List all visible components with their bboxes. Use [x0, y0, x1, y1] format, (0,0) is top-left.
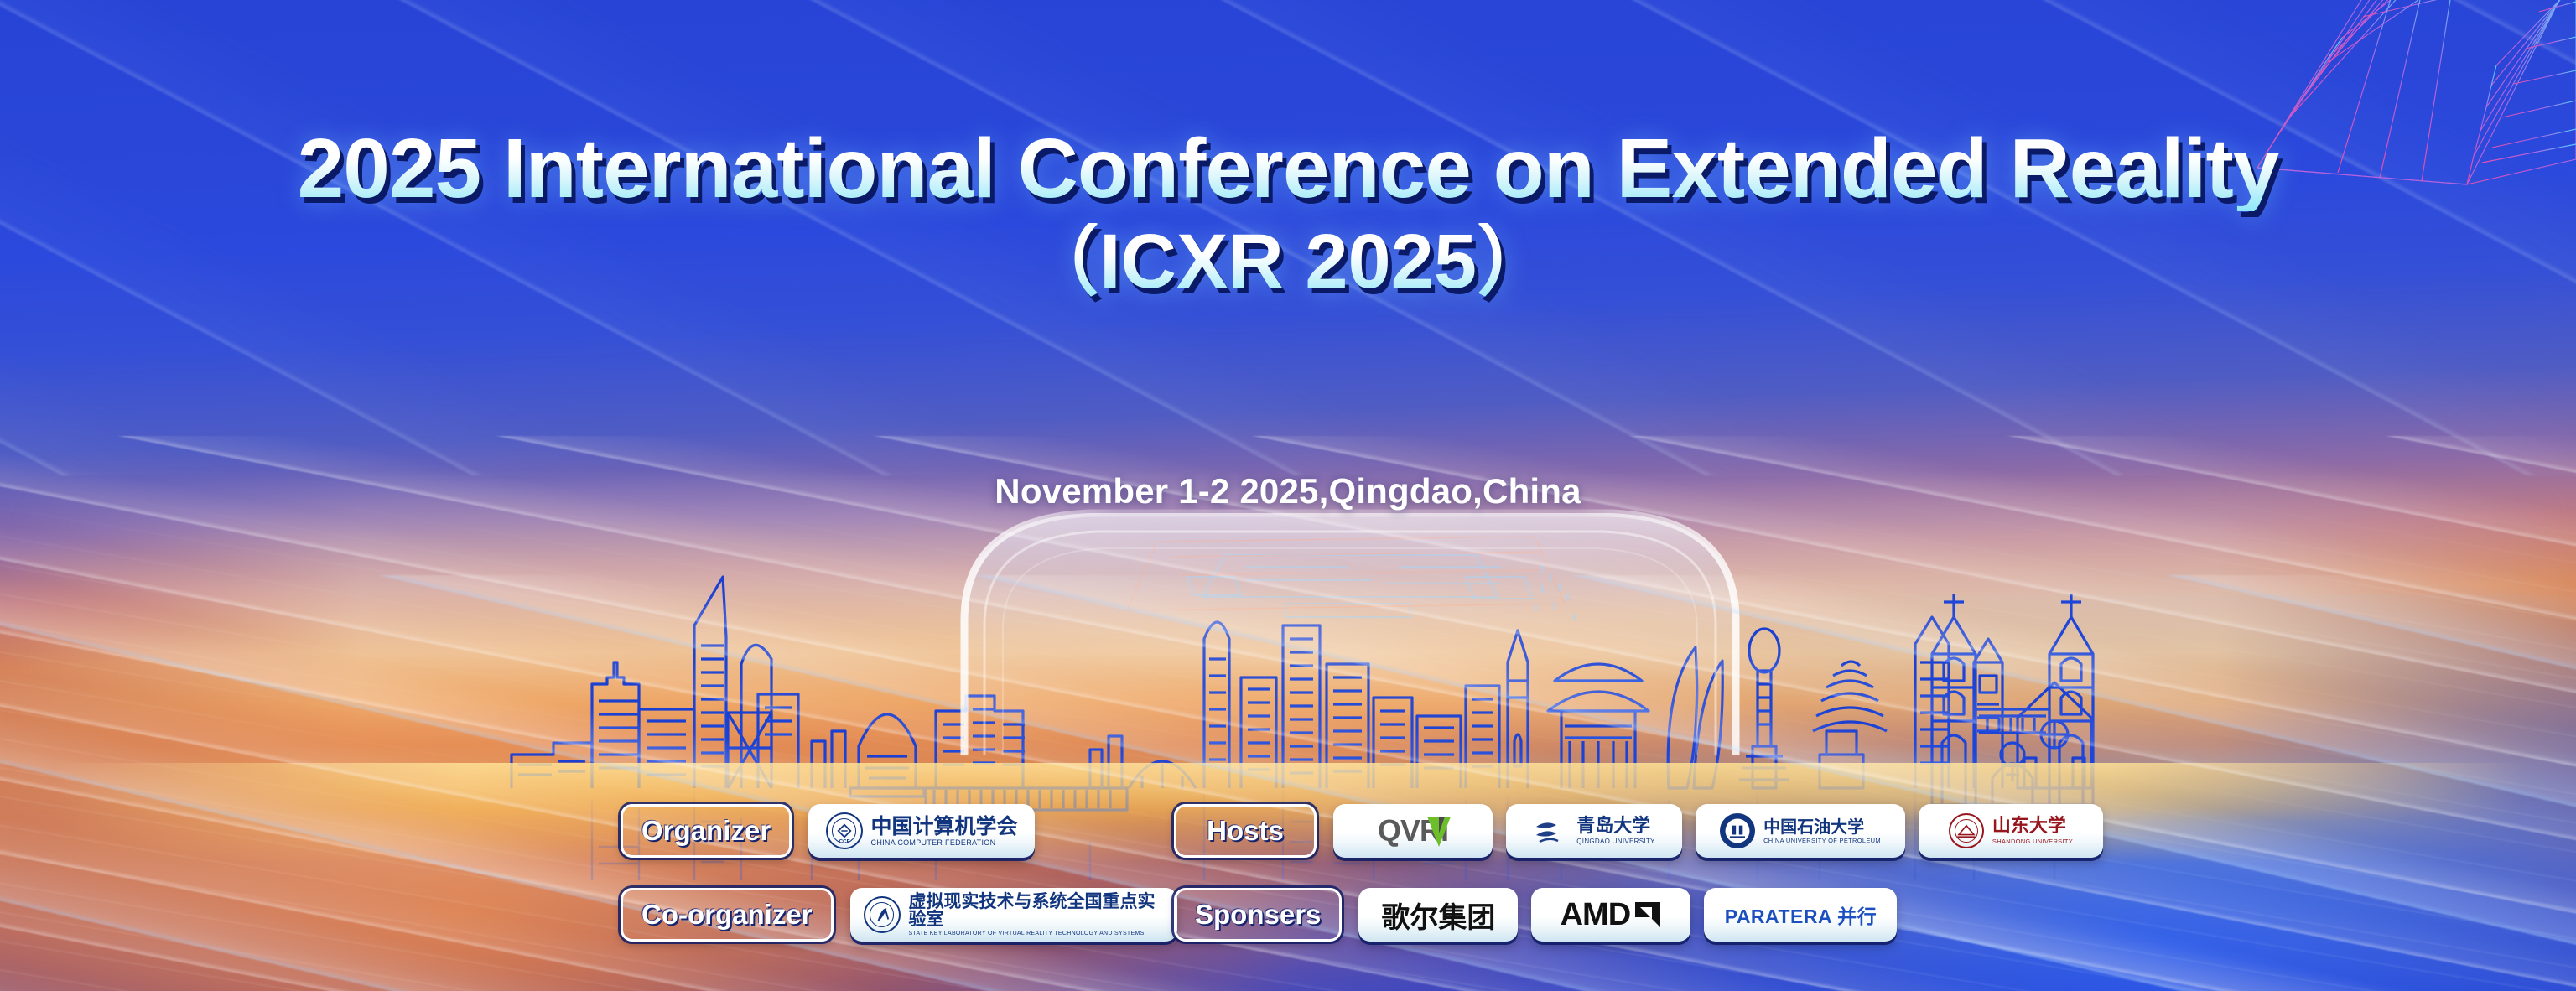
- ccf-name-cn: 中国计算机学会: [871, 816, 1018, 837]
- partners-section: Organizer CCF 中国计算机学会 CHINA COMPUTER FED…: [621, 803, 2029, 971]
- logo-qingdao-university[interactable]: 青岛大学 QINGDAO UNIVERSITY: [1506, 804, 1682, 858]
- sdu-name-cn: 山东大学: [1992, 817, 2073, 836]
- qingdao-university-name-cn: 青岛大学: [1576, 817, 1654, 836]
- qingdao-university-name-en: QINGDAO UNIVERSITY: [1576, 838, 1654, 845]
- sdu-seal-icon: [1949, 813, 1984, 848]
- vr-lab-name-cn: 虚拟现实技术与系统全国重点实验室: [909, 893, 1164, 928]
- label-hosts: Hosts: [1174, 804, 1317, 858]
- vr-headset-visor: [948, 503, 1753, 780]
- logo-goertek[interactable]: 歌尔集团: [1358, 888, 1518, 942]
- logo-amd[interactable]: AMD: [1531, 888, 1690, 942]
- logo-china-university-of-petroleum[interactable]: 中国石油大学 CHINA UNIVERSITY OF PETROLEUM: [1696, 804, 1905, 858]
- cup-seal-icon: [1720, 813, 1755, 848]
- cup-name-cn: 中国石油大学: [1763, 818, 1881, 835]
- cup-name-en: CHINA UNIVERSITY OF PETROLEUM: [1763, 838, 1881, 844]
- logo-china-computer-federation[interactable]: CCF 中国计算机学会 CHINA COMPUTER FEDERATION: [808, 804, 1035, 858]
- goertek-wordmark: 歌尔集团: [1381, 895, 1495, 936]
- vr-lab-name-en: STATE KEY LABORATORY OF VIRTUAL REALITY …: [909, 931, 1164, 937]
- partner-row-hosts: Hosts QVRI: [1174, 803, 2116, 859]
- qvri-v-icon: [1425, 815, 1453, 848]
- page-title-line2: （ICXR 2025）: [0, 223, 2576, 302]
- ccf-name-en: CHINA COMPUTER FEDERATION: [871, 839, 1018, 847]
- conference-banner: 2025 International Conference on Extende…: [0, 0, 2576, 991]
- title-block: 2025 International Conference on Extende…: [0, 126, 2576, 302]
- page-title-line1: 2025 International Conference on Extende…: [0, 126, 2576, 211]
- qingdao-university-mark-icon: [1533, 813, 1568, 848]
- logo-state-key-lab-vr[interactable]: 虚拟现实技术与系统全国重点实验室 STATE KEY LABORATORY OF…: [850, 888, 1177, 942]
- vr-lab-seal-icon: [864, 896, 901, 933]
- amd-arrow-icon: [1633, 900, 1662, 929]
- svg-text:CCF: CCF: [839, 839, 849, 845]
- cup-seal-glyph: [1722, 815, 1753, 847]
- ccf-seal-icon: CCF: [826, 812, 863, 849]
- ccf-seal-glyph: CCF: [828, 814, 861, 848]
- partner-row-sponsers: Sponsers 歌尔集团 AMD PARATERA 并行: [1174, 887, 1910, 942]
- label-co-organizer: Co-organizer: [621, 888, 834, 942]
- logo-qvri[interactable]: QVRI: [1333, 804, 1493, 858]
- logo-paratera[interactable]: PARATERA 并行: [1704, 888, 1897, 942]
- sdu-seal-glyph: [1950, 815, 1982, 847]
- label-organizer: Organizer: [621, 804, 792, 858]
- paratera-wordmark: PARATERA 并行: [1725, 900, 1877, 929]
- logo-shandong-university[interactable]: 山东大学 SHANDONG UNIVERSITY: [1919, 804, 2103, 858]
- amd-wordmark: AMD: [1561, 897, 1631, 933]
- sdu-name-en: SHANDONG UNIVERSITY: [1992, 838, 2073, 845]
- label-sponsers: Sponsers: [1174, 888, 1342, 942]
- date-location-text: November 1-2 2025,Qingdao,China: [0, 471, 2576, 511]
- vr-lab-seal-glyph: [865, 898, 899, 931]
